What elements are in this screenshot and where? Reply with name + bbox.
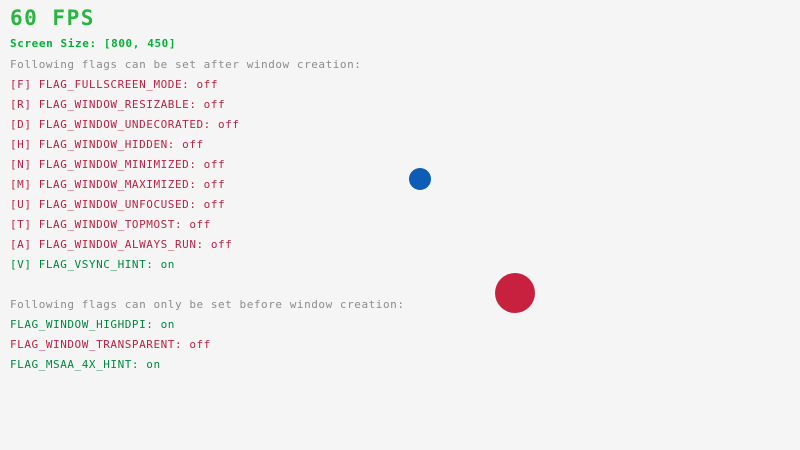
blue-circle-shape <box>409 168 431 190</box>
screen-size-label: Screen Size: [800, 450] <box>10 38 176 49</box>
flag-row-flag-window-transparent[interactable]: FLAG_WINDOW_TRANSPARENT: off <box>10 339 211 350</box>
flag-row-flag-window-hidden[interactable]: [H] FLAG_WINDOW_HIDDEN: off <box>10 139 204 150</box>
flag-row-flag-vsync-hint[interactable]: [V] FLAG_VSYNC_HINT: on <box>10 259 175 270</box>
flag-row-flag-window-unfocused[interactable]: [U] FLAG_WINDOW_UNFOCUSED: off <box>10 199 225 210</box>
flag-row-flag-window-always-run[interactable]: [A] FLAG_WINDOW_ALWAYS_RUN: off <box>10 239 232 250</box>
flag-row-flag-window-highdpi[interactable]: FLAG_WINDOW_HIGHDPI: on <box>10 319 175 330</box>
flag-row-flag-window-topmost[interactable]: [T] FLAG_WINDOW_TOPMOST: off <box>10 219 211 230</box>
red-circle-shape <box>495 273 535 313</box>
section-header-after-creation: Following flags can be set after window … <box>10 59 361 70</box>
flag-row-flag-window-resizable[interactable]: [R] FLAG_WINDOW_RESIZABLE: off <box>10 99 225 110</box>
flag-row-flag-window-maximized[interactable]: [M] FLAG_WINDOW_MAXIMIZED: off <box>10 179 225 190</box>
fps-counter: 60 FPS <box>10 8 95 29</box>
raylib-window-canvas: 60 FPS Screen Size: [800, 450] Following… <box>0 0 800 450</box>
flag-row-flag-fullscreen-mode[interactable]: [F] FLAG_FULLSCREEN_MODE: off <box>10 79 218 90</box>
flag-row-flag-msaa-4x-hint[interactable]: FLAG_MSAA_4X_HINT: on <box>10 359 161 370</box>
flag-row-flag-window-undecorated[interactable]: [D] FLAG_WINDOW_UNDECORATED: off <box>10 119 240 130</box>
section-header-before-creation: Following flags can only be set before w… <box>10 299 405 310</box>
flag-row-flag-window-minimized[interactable]: [N] FLAG_WINDOW_MINIMIZED: off <box>10 159 225 170</box>
